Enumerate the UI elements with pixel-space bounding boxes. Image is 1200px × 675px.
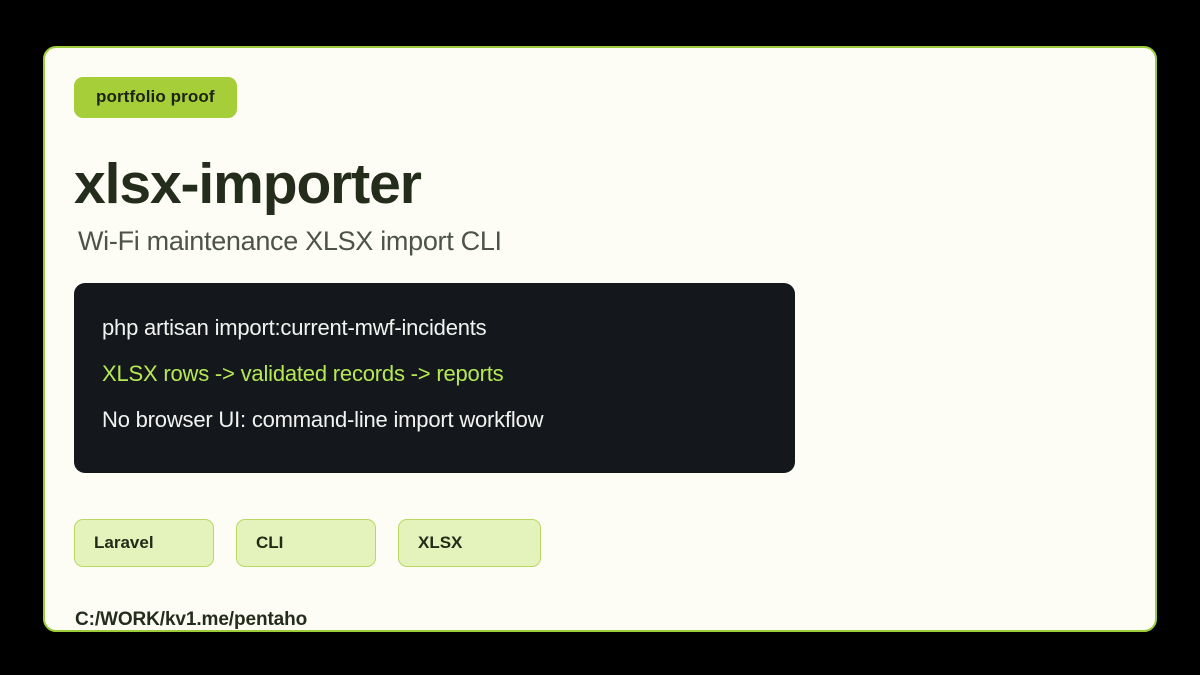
terminal-block: php artisan import:current-mwf-incidents… bbox=[74, 283, 795, 473]
tag-chip-list: Laravel CLI XLSX bbox=[74, 519, 1126, 567]
tag-chip-xlsx[interactable]: XLSX bbox=[398, 519, 541, 567]
tag-chip-cli[interactable]: CLI bbox=[236, 519, 376, 567]
status-badge: portfolio proof bbox=[74, 77, 237, 118]
terminal-line-note: No browser UI: command-line import workf… bbox=[102, 397, 767, 443]
terminal-line-command: php artisan import:current-mwf-incidents bbox=[102, 305, 767, 351]
project-card: portfolio proof xlsx-importer Wi-Fi main… bbox=[43, 46, 1157, 632]
card-content: portfolio proof xlsx-importer Wi-Fi main… bbox=[74, 77, 1126, 608]
page-title: xlsx-importer bbox=[74, 153, 1126, 215]
page-canvas: portfolio proof xlsx-importer Wi-Fi main… bbox=[0, 0, 1200, 675]
tag-chip-laravel[interactable]: Laravel bbox=[74, 519, 214, 567]
project-path: C:/WORK/kv1.me/pentaho bbox=[75, 609, 1126, 631]
terminal-line-pipeline: XLSX rows -> validated records -> report… bbox=[102, 351, 767, 397]
page-subtitle: Wi-Fi maintenance XLSX import CLI bbox=[78, 225, 1126, 257]
